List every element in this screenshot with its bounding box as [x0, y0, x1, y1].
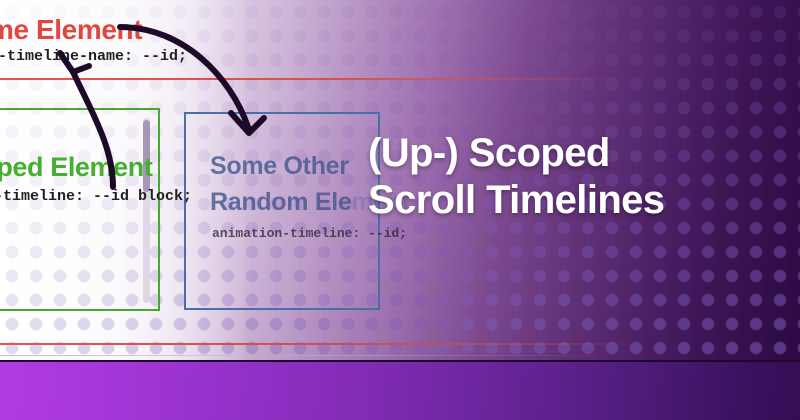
code-scroll-timeline-name: scroll-timeline-name: --id;	[0, 48, 187, 65]
heading-some-element: Some Element	[0, 14, 142, 46]
page-title: (Up-) Scoped Scroll Timelines	[368, 130, 778, 224]
divider-red-top	[0, 78, 620, 80]
heading-blue-line1: Some Other	[210, 152, 349, 180]
heading-blue-line2: Random Ele	[210, 188, 351, 216]
social-share-card: Some Element scroll-timeline-name: --id;…	[0, 0, 800, 420]
scoped-element-box	[0, 108, 160, 311]
divider-red-bottom	[0, 343, 640, 345]
divider-grey-bottom	[0, 355, 620, 356]
heading-scoped-element: Scoped Element	[0, 152, 152, 183]
footer-bar: Chris Coyier Frontend Masters BOOST	[0, 360, 800, 420]
code-scroll-timeline: scroll-timeline: --id block;	[0, 188, 192, 205]
title-line-1: (Up-) Scoped	[368, 131, 610, 175]
title-line-2: Scroll Timelines	[368, 178, 664, 222]
code-animation-timeline: animation-timeline: --id;	[212, 226, 407, 241]
